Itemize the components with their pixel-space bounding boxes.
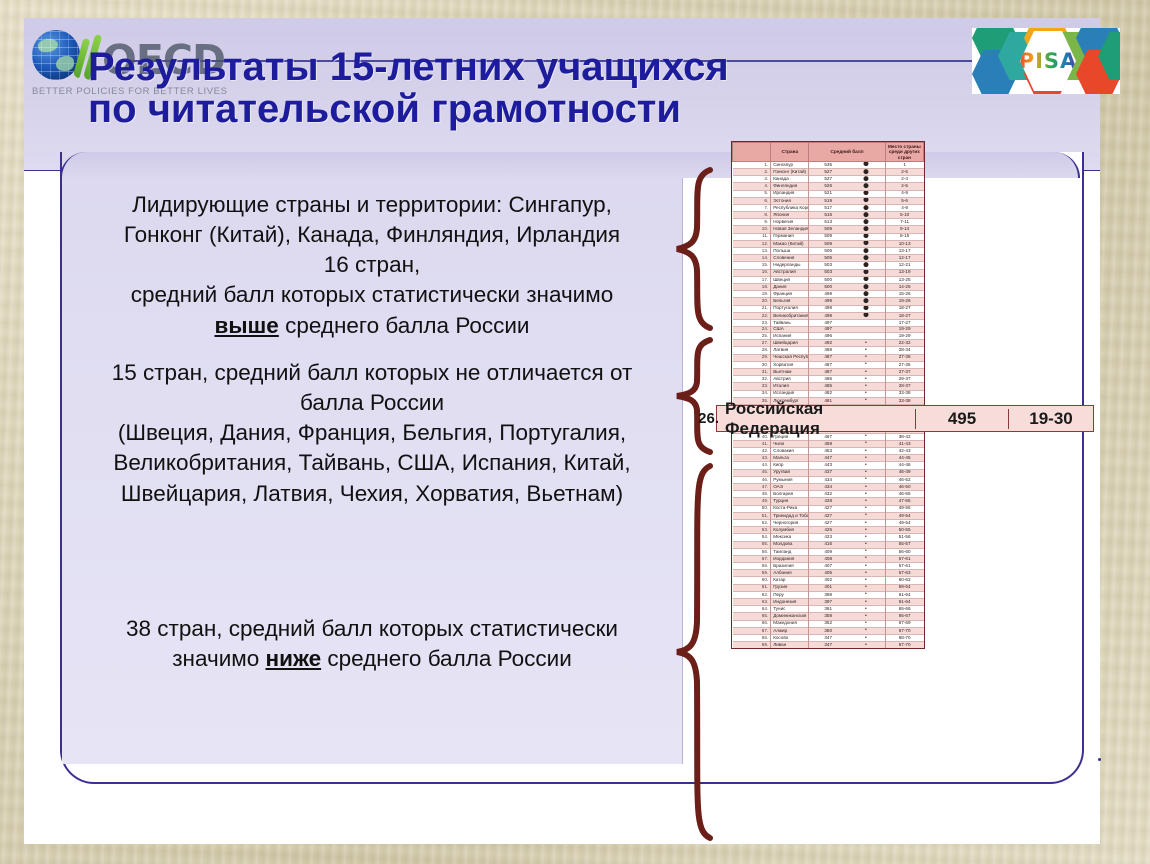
table-row[interactable]: 12.Макао (Китай)509⬤10-13 [733, 240, 924, 247]
table-row[interactable]: 23.Тайвань49717-27 [733, 319, 924, 326]
cell-place: 67-70 [885, 627, 923, 634]
cell-marker: • [847, 383, 885, 390]
cell-marker: • [847, 340, 885, 347]
table-row[interactable]: 42.Словакия453•42-43 [733, 448, 924, 455]
cell-country: Республика Корея [771, 204, 809, 211]
cell-index: 42. [733, 448, 771, 455]
cell-place: 5-10 [885, 212, 923, 219]
table-row[interactable]: 31.Вьетнам487•27-37 [733, 369, 924, 376]
cell-index: 44. [733, 462, 771, 469]
table-row[interactable]: 47.ОАЭ434•46-50 [733, 484, 924, 491]
rank-table-header-row: Страна Средний балл Место страны среди д… [733, 143, 924, 162]
cell-marker: • [847, 369, 885, 376]
cell-place: 14-25 [885, 283, 923, 290]
text-line: 38 стран, средний балл которых статистич… [68, 614, 676, 644]
cell-marker: ⬤ [847, 212, 885, 219]
cell-score: 521 [809, 190, 847, 197]
cell-index: 13. [733, 248, 771, 255]
cell-marker: ⬤ [847, 255, 885, 262]
cell-country: Болгария [771, 491, 809, 498]
cell-score: 398 [809, 591, 847, 598]
cell-country: Турция [771, 498, 809, 505]
cell-marker [847, 333, 885, 340]
table-row[interactable]: 45.Уругвай437•46-49 [733, 469, 924, 476]
decorative-dot [1098, 758, 1101, 761]
table-row[interactable]: 59.Албания405•57-63 [733, 570, 924, 577]
cell-score: 497 [809, 319, 847, 326]
cell-score: 487 [809, 369, 847, 376]
cell-index: 9. [733, 219, 771, 226]
cell-index: 54. [733, 534, 771, 541]
table-row[interactable]: 29.Чешская Республика487•27-35 [733, 354, 924, 361]
cell-place: 49-54 [885, 519, 923, 526]
page-title-line-2: по читательской грамотности [88, 88, 948, 130]
table-row[interactable]: 17.Швеция500⬤13-25 [733, 276, 924, 283]
cell-place: 12-21 [885, 262, 923, 269]
cell-index: 30. [733, 361, 771, 368]
cell-place: 46-52 [885, 476, 923, 483]
cell-marker: • [847, 555, 885, 562]
cell-index: 59. [733, 570, 771, 577]
cell-country: Латвия [771, 347, 809, 354]
cell-country: Словакия [771, 448, 809, 455]
cell-score: 347 [809, 634, 847, 641]
text-line: Лидирующие страны и территории: Сингапур… [68, 190, 676, 220]
cell-index: 23. [733, 319, 771, 326]
cell-marker: ⬤ [847, 248, 885, 255]
cell-marker: • [847, 347, 885, 354]
cell-marker: • [847, 527, 885, 534]
th-index [733, 143, 771, 162]
cell-score: 352 [809, 620, 847, 627]
text-line: Гонконг (Китай), Канада, Финляндия, Ирла… [68, 220, 676, 250]
brace-leaders [672, 166, 718, 331]
cell-country: Тринидад и Тобаго [771, 512, 809, 519]
cell-country: Великобритания [771, 312, 809, 319]
cell-marker: • [847, 484, 885, 491]
cell-score: 350 [809, 627, 847, 634]
table-row[interactable]: 15.Нидерланды503⬤12-21 [733, 262, 924, 269]
cell-place: 42-43 [885, 448, 923, 455]
cell-marker: • [847, 491, 885, 498]
cell-score: 358 [809, 613, 847, 620]
cell-score: 519 [809, 197, 847, 204]
pisa-logo: PISA [972, 28, 1120, 94]
cell-index: 24. [733, 326, 771, 333]
cell-country: США [771, 326, 809, 333]
table-row[interactable]: 68.Косово347•68-70 [733, 634, 924, 641]
cell-marker: • [847, 570, 885, 577]
cell-place: 8-15 [885, 233, 923, 240]
russia-place-range: 19-30 [1008, 409, 1093, 429]
cell-index: 1. [733, 161, 771, 168]
th-place: Место страны среди других стран [885, 143, 923, 162]
cell-marker: ⬤ [847, 183, 885, 190]
cell-index: 63. [733, 599, 771, 606]
cell-score: 409 [809, 548, 847, 555]
cell-marker: ⬤ [847, 219, 885, 226]
table-row[interactable]: 21.Португалия498⬤18-27 [733, 305, 924, 312]
table-row[interactable]: 1.Сингапур535⬤1 [733, 161, 924, 168]
cell-country: Кипр [771, 462, 809, 469]
cell-index: 14. [733, 255, 771, 262]
cell-index: 58. [733, 563, 771, 570]
cell-index: 32. [733, 376, 771, 383]
cell-place: 19-29 [885, 333, 923, 340]
cell-place: 46-50 [885, 484, 923, 491]
table-row[interactable]: 18.Дания500⬤14-25 [733, 283, 924, 290]
cell-marker: ⬤ [847, 233, 885, 240]
cell-place: 27-35 [885, 354, 923, 361]
cell-place: 22-32 [885, 340, 923, 347]
cell-marker: • [847, 376, 885, 383]
table-row[interactable]: 34.Исландия482•33-38 [733, 390, 924, 397]
cell-score: 509 [809, 233, 847, 240]
cell-marker: ⬤ [847, 298, 885, 305]
cell-country: Ливан [771, 642, 809, 649]
cell-place: 1 [885, 161, 923, 168]
cell-place: 28-37 [885, 383, 923, 390]
cell-index: 43. [733, 455, 771, 462]
th-country: Страна [771, 143, 809, 162]
text-block-below-russia: 38 стран, средний балл которых статистич… [68, 614, 676, 674]
text-block-leaders: Лидирующие страны и территории: Сингапур… [68, 190, 676, 341]
cell-score: 432 [809, 491, 847, 498]
cell-country: Австралия [771, 269, 809, 276]
cell-index: 51. [733, 512, 771, 519]
cell-score: 407 [809, 563, 847, 570]
cell-country: Катар [771, 577, 809, 584]
cell-country: Тунис [771, 606, 809, 613]
cell-country: Колумбия [771, 527, 809, 534]
cell-place: 59-64 [885, 584, 923, 591]
cell-country: Япония [771, 212, 809, 219]
cell-index: 68. [733, 634, 771, 641]
cell-index: 31. [733, 369, 771, 376]
table-row[interactable]: 52.Черногория427•49-54 [733, 519, 924, 526]
text-line: балла России [68, 388, 676, 418]
cell-score: 485 [809, 376, 847, 383]
cell-score: 527 [809, 168, 847, 175]
cell-marker: • [847, 548, 885, 555]
cell-place: 47-55 [885, 498, 923, 505]
cell-marker: • [847, 642, 885, 649]
cell-country: Хорватия [771, 361, 809, 368]
cell-score: 506 [809, 248, 847, 255]
table-row[interactable]: 27.Швейцария492•22-32 [733, 340, 924, 347]
russia-rank-number: 26. [693, 410, 723, 427]
table-row[interactable]: 46.Румыния434•46-52 [733, 476, 924, 483]
highlighted-row-russia[interactable]: 26. Российская Федерация 495 19-30 [716, 405, 1094, 432]
cell-country: Косово [771, 634, 809, 641]
text-line: Великобритания, Тайвань, США, Испания, К… [68, 448, 676, 478]
table-row[interactable]: 14.Словения505⬤12-17 [733, 255, 924, 262]
cell-marker: ⬤ [847, 197, 885, 204]
cell-score: 488 [809, 347, 847, 354]
table-row[interactable]: 48.Болгария432•46-55 [733, 491, 924, 498]
table-row[interactable]: 30.Хорватия487•27-35 [733, 361, 924, 368]
cell-marker: • [847, 606, 885, 613]
table-row[interactable]: 32.Австрия485•29-37 [733, 376, 924, 383]
cell-place: 60-63 [885, 577, 923, 584]
table-row[interactable]: 2.Гонконг (Китай)527⬤2-5 [733, 168, 924, 175]
russia-country-name: Российская Федерация [717, 399, 915, 439]
cell-index: 29. [733, 354, 771, 361]
cell-place: 33-38 [885, 390, 923, 397]
table-row[interactable]: 66.Македония352•67-69 [733, 620, 924, 627]
cell-marker: • [847, 563, 885, 570]
cell-index: 3. [733, 176, 771, 183]
cell-country: Сингапур [771, 161, 809, 168]
table-row[interactable]: 33.Италия485•28-37 [733, 383, 924, 390]
cell-index: 47. [733, 484, 771, 491]
cell-place: 61-64 [885, 599, 923, 606]
cell-place: 18-27 [885, 305, 923, 312]
cell-score: 405 [809, 570, 847, 577]
cell-country: Таиланд [771, 548, 809, 555]
cell-score: 447 [809, 455, 847, 462]
cell-country: Австрия [771, 376, 809, 383]
table-row[interactable]: 4.Финляндия526⬤2-5 [733, 183, 924, 190]
table-row[interactable]: 3.Канада527⬤2-4 [733, 176, 924, 183]
cell-score: 492 [809, 340, 847, 347]
cell-place: 61-64 [885, 591, 923, 598]
cell-place: 65-67 [885, 613, 923, 620]
cell-score: 443 [809, 462, 847, 469]
cell-country: Вьетнам [771, 369, 809, 376]
cell-country: Италия [771, 383, 809, 390]
cell-place: 57-61 [885, 555, 923, 562]
table-row[interactable]: 53.Колумбия425•50-55 [733, 527, 924, 534]
pisa-wordmark: PISA [1019, 49, 1078, 73]
cell-marker: • [847, 634, 885, 641]
cell-country: Иордания [771, 555, 809, 562]
table-row[interactable]: 62.Перу398•61-64 [733, 591, 924, 598]
slide-body-top-arc [60, 152, 1080, 178]
cell-index: 62. [733, 591, 771, 598]
cell-score: 425 [809, 527, 847, 534]
cell-score: 453 [809, 448, 847, 455]
cell-index: 69. [733, 642, 771, 649]
table-row[interactable]: 5.Ирландия521⬤4-9 [733, 190, 924, 197]
text-block-same-as-russia: 15 стран, средний балл которых не отлича… [68, 358, 676, 509]
cell-place: 46-55 [885, 491, 923, 498]
cell-place: 2-5 [885, 168, 923, 175]
table-row[interactable]: 49.Турция428•47-55 [733, 498, 924, 505]
cell-place: 19-29 [885, 326, 923, 333]
cell-place: 4-9 [885, 190, 923, 197]
cell-place: 46-49 [885, 469, 923, 476]
cell-marker: • [847, 448, 885, 455]
cell-country: Швеция [771, 276, 809, 283]
table-row[interactable]: 57.Иордания408•57-61 [733, 555, 924, 562]
cell-score: 427 [809, 512, 847, 519]
country-rank-table[interactable]: Страна Средний балл Место страны среди д… [731, 141, 925, 649]
cell-index: 21. [733, 305, 771, 312]
cell-score: 401 [809, 584, 847, 591]
cell-country: Мальта [771, 455, 809, 462]
russia-mean-score: 495 [915, 409, 1008, 429]
table-row[interactable]: 13.Польша506⬤13-17 [733, 248, 924, 255]
cell-country: Индонезия [771, 599, 809, 606]
cell-marker: • [847, 599, 885, 606]
cell-country: Грузия [771, 584, 809, 591]
cell-place: 49-55 [885, 505, 923, 512]
table-row[interactable]: 69.Ливан347•67-70 [733, 642, 924, 649]
table-row[interactable]: 8.Япония516⬤5-10 [733, 212, 924, 219]
cell-place: 51-56 [885, 534, 923, 541]
cell-country: Чешская Республика [771, 354, 809, 361]
cell-place: 41-43 [885, 440, 923, 447]
cell-marker: ⬤ [847, 305, 885, 312]
cell-place: 57-63 [885, 570, 923, 577]
cell-country: Канада [771, 176, 809, 183]
table-row[interactable]: 43.Мальта447•44-45 [733, 455, 924, 462]
cell-marker: • [847, 469, 885, 476]
cell-score: 498 [809, 305, 847, 312]
cell-country: Перу [771, 591, 809, 598]
cell-country: Бельгия [771, 298, 809, 305]
table-row[interactable]: 55.Молдова416•55-57 [733, 541, 924, 548]
table-row[interactable]: 24.США49719-29 [733, 326, 924, 333]
cell-index: 48. [733, 491, 771, 498]
cell-place: 10-13 [885, 240, 923, 247]
cell-score: 497 [809, 326, 847, 333]
table-row[interactable]: 56.Таиланд409•56-60 [733, 548, 924, 555]
cell-marker: ⬤ [847, 161, 885, 168]
cell-marker: • [847, 627, 885, 634]
cell-index: 2. [733, 168, 771, 175]
cell-score: 408 [809, 555, 847, 562]
cell-score: 505 [809, 255, 847, 262]
cell-index: 5. [733, 190, 771, 197]
cell-index: 12. [733, 240, 771, 247]
table-row[interactable]: 25.Испания49619-29 [733, 333, 924, 340]
cell-score: 516 [809, 212, 847, 219]
cell-index: 34. [733, 390, 771, 397]
table-row[interactable]: 9.Норвегия513⬤7-11 [733, 219, 924, 226]
table-row[interactable]: 19.Франция499⬤15-26 [733, 291, 924, 298]
cell-place: 13-25 [885, 276, 923, 283]
table-row[interactable]: 50.Коста-Рика427•49-55 [733, 505, 924, 512]
cell-place: 49-54 [885, 512, 923, 519]
cell-index: 7. [733, 204, 771, 211]
table-row[interactable]: 44.Кипр443•44-46 [733, 462, 924, 469]
table-row[interactable]: 22.Великобритания498⬤18-27 [733, 312, 924, 319]
cell-country: Эстония [771, 197, 809, 204]
cell-marker: • [847, 498, 885, 505]
cell-country: Дания [771, 283, 809, 290]
cell-marker: • [847, 505, 885, 512]
cell-marker: • [847, 476, 885, 483]
cell-place: 65-66 [885, 606, 923, 613]
cell-score: 434 [809, 484, 847, 491]
page-title-line-1: Результаты 15-летних учащихся [88, 45, 729, 89]
cell-marker: • [847, 591, 885, 598]
cell-place: 2-5 [885, 183, 923, 190]
cell-marker: • [847, 455, 885, 462]
cell-country: Гонконг (Китай) [771, 168, 809, 175]
cell-score: 526 [809, 183, 847, 190]
cell-country: Норвегия [771, 219, 809, 226]
cell-index: 66. [733, 620, 771, 627]
cell-index: 22. [733, 312, 771, 319]
cell-marker: ⬤ [847, 283, 885, 290]
cell-marker: • [847, 440, 885, 447]
cell-country: Бразилия [771, 563, 809, 570]
cell-country: Финляндия [771, 183, 809, 190]
cell-place: 67-69 [885, 620, 923, 627]
cell-score: 485 [809, 383, 847, 390]
cell-score: 517 [809, 204, 847, 211]
table-row[interactable]: 16.Австралия503⬤13-19 [733, 269, 924, 276]
cell-score: 397 [809, 599, 847, 606]
cell-score: 499 [809, 298, 847, 305]
table-row[interactable]: 64.Тунис361•65-66 [733, 606, 924, 613]
cell-index: 11. [733, 233, 771, 240]
cell-score: 527 [809, 176, 847, 183]
table-row[interactable]: 67.Алжир350•67-70 [733, 627, 924, 634]
cell-place: 13-19 [885, 269, 923, 276]
th-mean-score: Средний балл [809, 143, 885, 162]
cell-country: Германия [771, 233, 809, 240]
cell-place: 50-55 [885, 527, 923, 534]
cell-marker: ⬤ [847, 269, 885, 276]
table-row[interactable]: 54.Мексика423•51-56 [733, 534, 924, 541]
rank-table-element: Страна Средний балл Место страны среди д… [732, 142, 924, 648]
cell-score: 361 [809, 606, 847, 613]
table-row[interactable]: 63.Индонезия397•61-64 [733, 599, 924, 606]
table-row[interactable]: 28.Латвия488•28-34 [733, 347, 924, 354]
cell-marker: • [847, 519, 885, 526]
cell-marker: ⬤ [847, 176, 885, 183]
cell-country: Швейцария [771, 340, 809, 347]
cell-marker: ⬤ [847, 204, 885, 211]
cell-country: Нидерланды [771, 262, 809, 269]
table-row[interactable]: 6.Эстония519⬤5-6 [733, 197, 924, 204]
cell-country: Черногория [771, 519, 809, 526]
cell-index: 8. [733, 212, 771, 219]
cell-country: Доминиканская Республика [771, 613, 809, 620]
cell-marker: ⬤ [847, 276, 885, 283]
cell-marker: ⬤ [847, 168, 885, 175]
table-row[interactable]: 41.Чили459•41-43 [733, 440, 924, 447]
table-row[interactable]: 20.Бельгия499⬤19-26 [733, 298, 924, 305]
cell-country: Ирландия [771, 190, 809, 197]
cell-marker: • [847, 512, 885, 519]
cell-place: 56-60 [885, 548, 923, 555]
cell-place: 18-27 [885, 312, 923, 319]
table-row[interactable]: 65.Доминиканская Республика358•65-67 [733, 613, 924, 620]
cell-score: 434 [809, 476, 847, 483]
table-row[interactable]: 11.Германия509⬤8-15 [733, 233, 924, 240]
cell-score: 428 [809, 498, 847, 505]
cell-country: Албания [771, 570, 809, 577]
brace-below-russia [672, 462, 718, 842]
cell-place: 12-17 [885, 255, 923, 262]
cell-index: 28. [733, 347, 771, 354]
cell-index: 57. [733, 555, 771, 562]
table-row[interactable]: 60.Катар402•60-63 [733, 577, 924, 584]
table-row[interactable]: 58.Бразилия407•57-61 [733, 563, 924, 570]
table-row[interactable]: 51.Тринидад и Тобаго427•49-54 [733, 512, 924, 519]
cell-country: ОАЭ [771, 484, 809, 491]
cell-place: 17-27 [885, 319, 923, 326]
cell-country: Чили [771, 440, 809, 447]
table-row[interactable]: 10.Новая Зеландия509⬤9-14 [733, 226, 924, 233]
table-row[interactable]: 7.Республика Корея517⬤4-9 [733, 204, 924, 211]
table-row[interactable]: 61.Грузия401•59-64 [733, 584, 924, 591]
